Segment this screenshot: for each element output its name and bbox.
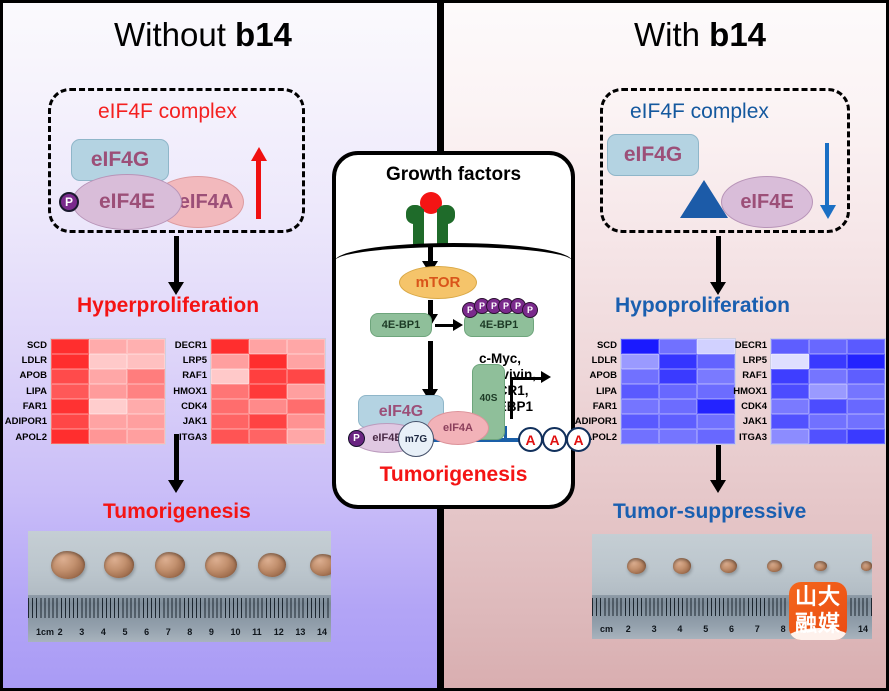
gene-label: LDLR (14, 353, 50, 368)
heatmap-cell (621, 414, 659, 429)
heatmap-cell (659, 339, 697, 354)
gene-label: DECR1 (168, 338, 210, 353)
gene-label: CDK4 (168, 399, 210, 414)
heatmap-cell (287, 384, 325, 399)
heatmap-cell (127, 429, 165, 444)
heatmap-cell (287, 354, 325, 369)
heatmap-row (771, 354, 885, 369)
gene-label: JAK1 (728, 415, 770, 430)
heatmap-cell (249, 354, 287, 369)
gene-label: SCD (14, 338, 50, 353)
ruler-number: 14 (858, 624, 868, 634)
heatmap-cell (51, 384, 89, 399)
heatmap-gene-labels: SCDLDLRAPOBLIPAFAR1ADIPOR1APOL2 (14, 338, 50, 445)
heatmap-cell (847, 384, 885, 399)
heatmap-gene-labels: DECR1LRP5RAF1HMOX1CDK4JAK1ITGA3 (728, 338, 770, 445)
heatmap-cell (249, 384, 287, 399)
heatmap-cell (847, 399, 885, 414)
pathway-card-title: Growth factors (336, 164, 571, 186)
ruler-number: 11 (252, 627, 262, 637)
gene-label: RAF1 (728, 369, 770, 384)
heatmap-grid (50, 338, 166, 445)
polya-tail-residue: A (518, 427, 543, 452)
ruler-number: 8 (781, 624, 786, 634)
heatmap-cell (287, 369, 325, 384)
heatmap-row (621, 384, 735, 399)
heatmap-cell (249, 339, 287, 354)
heatmap-cell (287, 429, 325, 444)
tumor-specimen (767, 560, 782, 573)
heatmap-cell (211, 339, 249, 354)
heatmap-cell (249, 399, 287, 414)
receptor-left-stem-icon (413, 209, 424, 245)
right-stage-hypoproliferation: Hypoproliferation (615, 294, 790, 318)
heatmap-cell (211, 399, 249, 414)
heatmap-cell (771, 399, 809, 414)
gene-label: LIPA (14, 384, 50, 399)
right-title-prefix: With (634, 16, 709, 53)
gene-label: DECR1 (728, 338, 770, 353)
tumor-specimen (258, 553, 286, 577)
heatmap-cell (211, 369, 249, 384)
heatmap-cell (809, 384, 847, 399)
gene-label: LIPA (578, 384, 620, 399)
tumor-specimen (104, 552, 134, 577)
ruler-number: 6 (729, 624, 734, 634)
ruler-number: 1cm (36, 627, 54, 637)
tumor-specimen (720, 559, 737, 573)
gene-label: APOL2 (14, 430, 50, 445)
heatmap-cell (621, 429, 659, 444)
polya-tail-residue: A (542, 427, 567, 452)
heatmap-row (211, 429, 325, 444)
heatmap-cell (89, 414, 127, 429)
heatmap-cell (51, 369, 89, 384)
watermark-logo: 山大融媒 (789, 582, 847, 640)
heatmap-row (211, 384, 325, 399)
heatmap-cell (51, 339, 89, 354)
pathway-card: Growth factors mTOR 4E-BP1 4E-BP1 PPPPPP… (332, 151, 575, 509)
heatmap-cell (211, 429, 249, 444)
heatmap-cell (847, 354, 885, 369)
gene-label: ADIPOR1 (14, 415, 50, 430)
gene-label: FAR1 (14, 399, 50, 414)
heatmap-cell (659, 399, 697, 414)
ruler-ticks (28, 598, 331, 618)
right-eif4g-protein: eIF4G (607, 134, 699, 176)
heatmap-cell (809, 369, 847, 384)
mrna-m7g-cap: m7G (398, 421, 434, 457)
gene-label: LRP5 (168, 353, 210, 368)
heatmap-grid (210, 338, 326, 445)
arrow-head (453, 319, 463, 331)
heatmap-row (771, 399, 885, 414)
gene-label: ADIPOR1 (578, 415, 620, 430)
heatmap-cell (89, 354, 127, 369)
heatmap-row (771, 369, 885, 384)
gene-label: FAR1 (578, 399, 620, 414)
watermark-text: 山大融媒 (789, 582, 847, 640)
gene-label: CDK4 (728, 399, 770, 414)
heatmap-cell (127, 369, 165, 384)
gene-label: LDLR (578, 353, 620, 368)
right-stage-tumor-suppressive: Tumor-suppressive (613, 500, 806, 524)
heatmap-cell (771, 354, 809, 369)
heatmap-gene-labels: DECR1LRP5RAF1HMOX1CDK4JAK1ITGA3 (168, 338, 210, 445)
ruler-number: 5 (703, 624, 708, 634)
ruler-number: 9 (209, 627, 214, 637)
ruler-number: 7 (166, 627, 171, 637)
heatmap-row (771, 384, 885, 399)
heatmap-row (211, 354, 325, 369)
tumor-specimen (673, 558, 691, 573)
left-eif4e-protein: eIF4E (72, 174, 182, 230)
right-eif4e-protein: eIF4E (721, 176, 813, 228)
heatmap-cell (621, 369, 659, 384)
arrow-shaft (435, 324, 455, 327)
heatmap-cell (127, 354, 165, 369)
heatmap-row (621, 414, 735, 429)
heatmap-left-group-a: SCDLDLRAPOBLIPAFAR1ADIPOR1APOL2 (14, 338, 166, 445)
receptor-right-stem-icon (437, 209, 448, 245)
ruler-numbers: 1cm234567891011121314 (28, 627, 331, 640)
heatmap-cell (809, 429, 847, 444)
polya-tail-residue: A (566, 427, 591, 452)
ruler-number: 2 (626, 624, 631, 634)
heatmap-cell (249, 429, 287, 444)
ruler-number: 7 (755, 624, 760, 634)
ruler-number: 6 (144, 627, 149, 637)
heatmap-cell (89, 429, 127, 444)
phosphate-icon: P (522, 302, 538, 318)
mtor-node: mTOR (399, 266, 477, 299)
ruler-number: 3 (79, 627, 84, 637)
tumor-specimen (814, 561, 827, 572)
heatmap-grid (770, 338, 886, 445)
arrow-shaft (174, 236, 179, 282)
tumor-specimen (861, 561, 872, 570)
heatmap-row (51, 429, 165, 444)
heatmap-cell (847, 369, 885, 384)
heatmap-row (621, 354, 735, 369)
heatmap-cell (621, 399, 659, 414)
heatmap-cell (89, 399, 127, 414)
heatmap-left-group-b: DECR1LRP5RAF1HMOX1CDK4JAK1ITGA3 (168, 338, 326, 445)
arrow-head (710, 480, 726, 493)
gene-label: JAK1 (168, 415, 210, 430)
heatmap-cell (249, 414, 287, 429)
heatmap-cell (659, 369, 697, 384)
card-phospho-icon: P (348, 430, 365, 447)
heatmap-cell (127, 399, 165, 414)
heatmap-row (621, 369, 735, 384)
arrow-bp1-phosphorylation (435, 323, 461, 328)
gene-label: HMOX1 (168, 384, 210, 399)
heatmap-row (51, 339, 165, 354)
arrow-head (168, 480, 184, 493)
heatmap-cell (211, 354, 249, 369)
heatmap-row (211, 399, 325, 414)
heatmap-cell (771, 414, 809, 429)
heatmap-row (211, 339, 325, 354)
arrow-shaft (716, 236, 721, 282)
heatmap-row (211, 369, 325, 384)
left-complex-label: eIF4F complex (98, 100, 237, 124)
4ebp1-unphosphorylated: 4E-BP1 (370, 313, 432, 337)
left-panel-title: Without b14 (114, 16, 292, 54)
heatmap-cell (771, 369, 809, 384)
heatmap-cell (51, 414, 89, 429)
ruler-number: 13 (295, 627, 305, 637)
gene-label: RAF1 (168, 369, 210, 384)
heatmap-cell (771, 384, 809, 399)
heatmap-row (51, 369, 165, 384)
heatmap-row (621, 399, 735, 414)
ruler-number: 3 (652, 624, 657, 634)
heatmap-row (51, 399, 165, 414)
gene-label: APOB (14, 369, 50, 384)
arrow-shaft (428, 300, 433, 314)
heatmap-row (51, 354, 165, 369)
heatmap-cell (659, 414, 697, 429)
heatmap-cell (621, 354, 659, 369)
heatmap-cell (89, 384, 127, 399)
heatmap-cell (127, 384, 165, 399)
right-complex-label: eIF4F complex (630, 100, 769, 124)
heatmap-cell (847, 339, 885, 354)
heatmap-grid (620, 338, 736, 445)
ruler-number: cm (600, 624, 613, 634)
heatmap-cell (621, 384, 659, 399)
heatmap-cell (659, 354, 697, 369)
ruler-number: 12 (274, 627, 284, 637)
heatmap-right-group-b: DECR1LRP5RAF1HMOX1CDK4JAK1ITGA3 (728, 338, 886, 445)
heatmap-cell (659, 429, 697, 444)
ruler-left: 1cm234567891011121314 (28, 595, 331, 642)
heatmap-cell (51, 429, 89, 444)
heatmap-cell (809, 414, 847, 429)
gene-label: ITGA3 (168, 430, 210, 445)
ruler-number: 14 (317, 627, 327, 637)
heatmap-right-group-a: SCDLDLRAPOBLIPAFAR1ADIPOR1APOL2 (578, 338, 736, 445)
left-title-prefix: Without (114, 16, 235, 53)
gene-label: HMOX1 (728, 384, 770, 399)
left-title-bold: b14 (235, 16, 292, 53)
left-phospho-icon: P (59, 192, 79, 212)
cell-membrane-line (335, 243, 572, 261)
ruler-number: 10 (231, 627, 241, 637)
phosphate-group-cluster: PPPPPP (462, 298, 538, 314)
heatmap-cell (771, 429, 809, 444)
heatmap-cell (847, 429, 885, 444)
ruler-number: 5 (122, 627, 127, 637)
tumor-specimen (155, 552, 185, 577)
heatmap-row (621, 429, 735, 444)
gene-label: SCD (578, 338, 620, 353)
ruler-number: 4 (101, 627, 106, 637)
ruler-number: 4 (677, 624, 682, 634)
heatmap-cell (51, 354, 89, 369)
heatmap-cell (211, 414, 249, 429)
heatmap-cell (287, 339, 325, 354)
right-title-bold: b14 (709, 16, 766, 53)
heatmap-row (51, 384, 165, 399)
heatmap-cell (809, 354, 847, 369)
gene-label: ITGA3 (728, 430, 770, 445)
heatmap-cell (89, 339, 127, 354)
tumor-specimen (627, 558, 646, 574)
right-panel-title: With b14 (634, 16, 766, 54)
card-eif4a-protein: eIF4A (427, 411, 489, 445)
heatmap-cell (89, 369, 127, 384)
down-arrow-shaft (825, 143, 829, 207)
figure-root: Without b14 With b14 eIF4F complex eIF4G… (0, 0, 889, 691)
heatmap-cell (287, 414, 325, 429)
heatmap-cell (771, 339, 809, 354)
heatmap-cell (127, 339, 165, 354)
bracket-arrow-head (541, 371, 551, 383)
heatmap-cell (847, 414, 885, 429)
gene-label: APOB (578, 369, 620, 384)
ruler-number: 2 (58, 627, 63, 637)
heatmap-cell (51, 399, 89, 414)
up-arrow-shaft (256, 157, 261, 219)
heatmap-cell (287, 399, 325, 414)
arrow-shaft (428, 247, 433, 261)
left-stage-hyperproliferation: Hyperproliferation (77, 294, 259, 318)
ruler-number: 8 (187, 627, 192, 637)
heatmap-cell (659, 384, 697, 399)
down-arrow-head (820, 205, 836, 219)
heatmap-row (771, 429, 885, 444)
heatmap-row (771, 339, 885, 354)
heatmap-cell (211, 384, 249, 399)
heatmap-cell (249, 369, 287, 384)
left-stage-tumorigenesis: Tumorigenesis (103, 500, 251, 524)
heatmap-cell (809, 339, 847, 354)
arrow-shaft (428, 341, 433, 389)
heatmap-row (771, 414, 885, 429)
translation-output-bracket (510, 377, 542, 419)
heatmap-cell (809, 399, 847, 414)
pathway-outcome-label: Tumorigenesis (336, 463, 571, 487)
heatmap-row (621, 339, 735, 354)
gene-label: LRP5 (728, 353, 770, 368)
heatmap-row (51, 414, 165, 429)
heatmap-row (211, 414, 325, 429)
tumor-photo-without-b14: 1cm234567891011121314 (28, 531, 331, 642)
heatmap-cell (621, 339, 659, 354)
heatmap-cell (127, 414, 165, 429)
